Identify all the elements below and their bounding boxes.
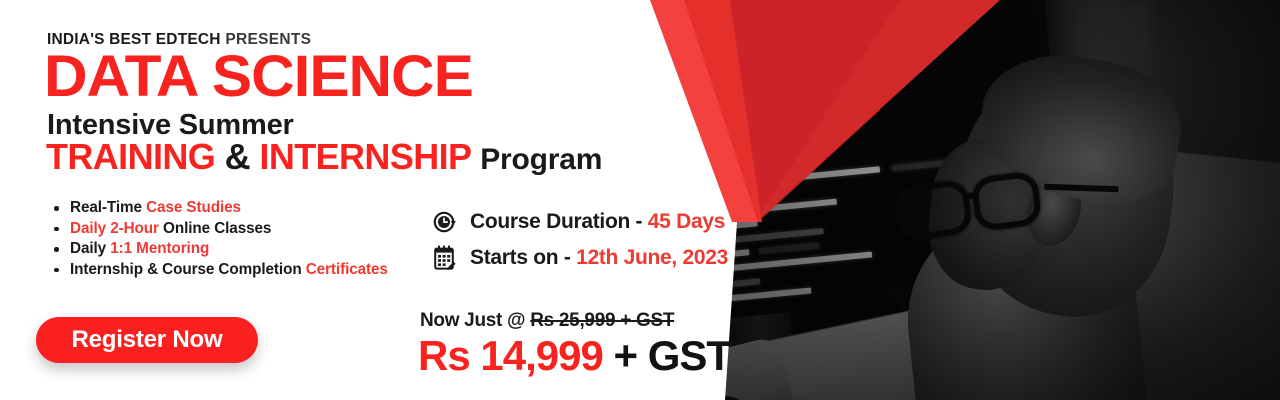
price-current-amount: Rs 14,999: [418, 332, 603, 379]
feature-highlight: Case Studies: [146, 199, 241, 216]
feature-highlight: Certificates: [306, 261, 388, 278]
feature-suffix: Online Classes: [159, 220, 271, 237]
list-item: Internship & Course Completion Certifica…: [50, 260, 388, 281]
subtitle-ampersand: &: [225, 136, 250, 177]
clock-duration-icon: [432, 208, 458, 236]
info-duration-label: Course Duration -: [470, 210, 648, 233]
list-item: Real-Time Case Studies: [50, 198, 388, 219]
feature-highlight: 1:1 Mentoring: [110, 240, 209, 257]
course-info-block: Course Duration - 45 Days: [432, 206, 728, 278]
feature-highlight: Daily 2-Hour: [70, 220, 159, 237]
subtitle-training: TRAINING: [46, 136, 215, 177]
feature-prefix: Daily: [70, 240, 110, 257]
info-start-date-text: Starts on - 12th June, 2023: [470, 246, 728, 270]
info-row-start-date: Starts on - 12th June, 2023: [432, 242, 728, 274]
banner-content: INDIA'S BEST EDTECH PRESENTS DATA SCIENC…: [0, 0, 760, 400]
list-item: Daily 1:1 Mentoring: [50, 239, 388, 260]
feature-prefix: Internship & Course Completion: [70, 261, 306, 278]
price-original: Now Just @ Rs 25,999 + GST: [420, 310, 674, 332]
price-current-tax: + GST: [614, 332, 732, 379]
list-item: Daily 2-Hour Online Classes: [50, 219, 388, 240]
promo-banner: INDIA'S BEST EDTECH PRESENTS DATA SCIENC…: [0, 0, 1280, 400]
calendar-icon: [432, 244, 458, 272]
register-now-button[interactable]: Register Now: [36, 317, 258, 363]
subtitle-line-2: TRAINING & INTERNSHIP Program: [46, 138, 602, 179]
price-prefix: Now Just @: [420, 310, 525, 331]
info-row-duration: Course Duration - 45 Days: [432, 206, 728, 238]
subtitle-program: Program: [480, 143, 602, 176]
page-title: DATA SCIENCE: [44, 48, 473, 106]
info-start-date-value: 12th June, 2023: [576, 246, 728, 269]
price-current: Rs 14,999 + GST: [418, 332, 731, 380]
info-duration-text: Course Duration - 45 Days: [470, 210, 725, 234]
info-start-date-label: Starts on -: [470, 246, 576, 269]
feature-list: Real-Time Case Studies Daily 2-Hour Onli…: [50, 198, 388, 280]
price-struck-value: Rs 25,999 + GST: [530, 310, 674, 331]
feature-prefix: Real-Time: [70, 199, 146, 216]
info-duration-value: 45 Days: [648, 210, 725, 233]
subtitle-internship: INTERNSHIP: [259, 136, 470, 177]
